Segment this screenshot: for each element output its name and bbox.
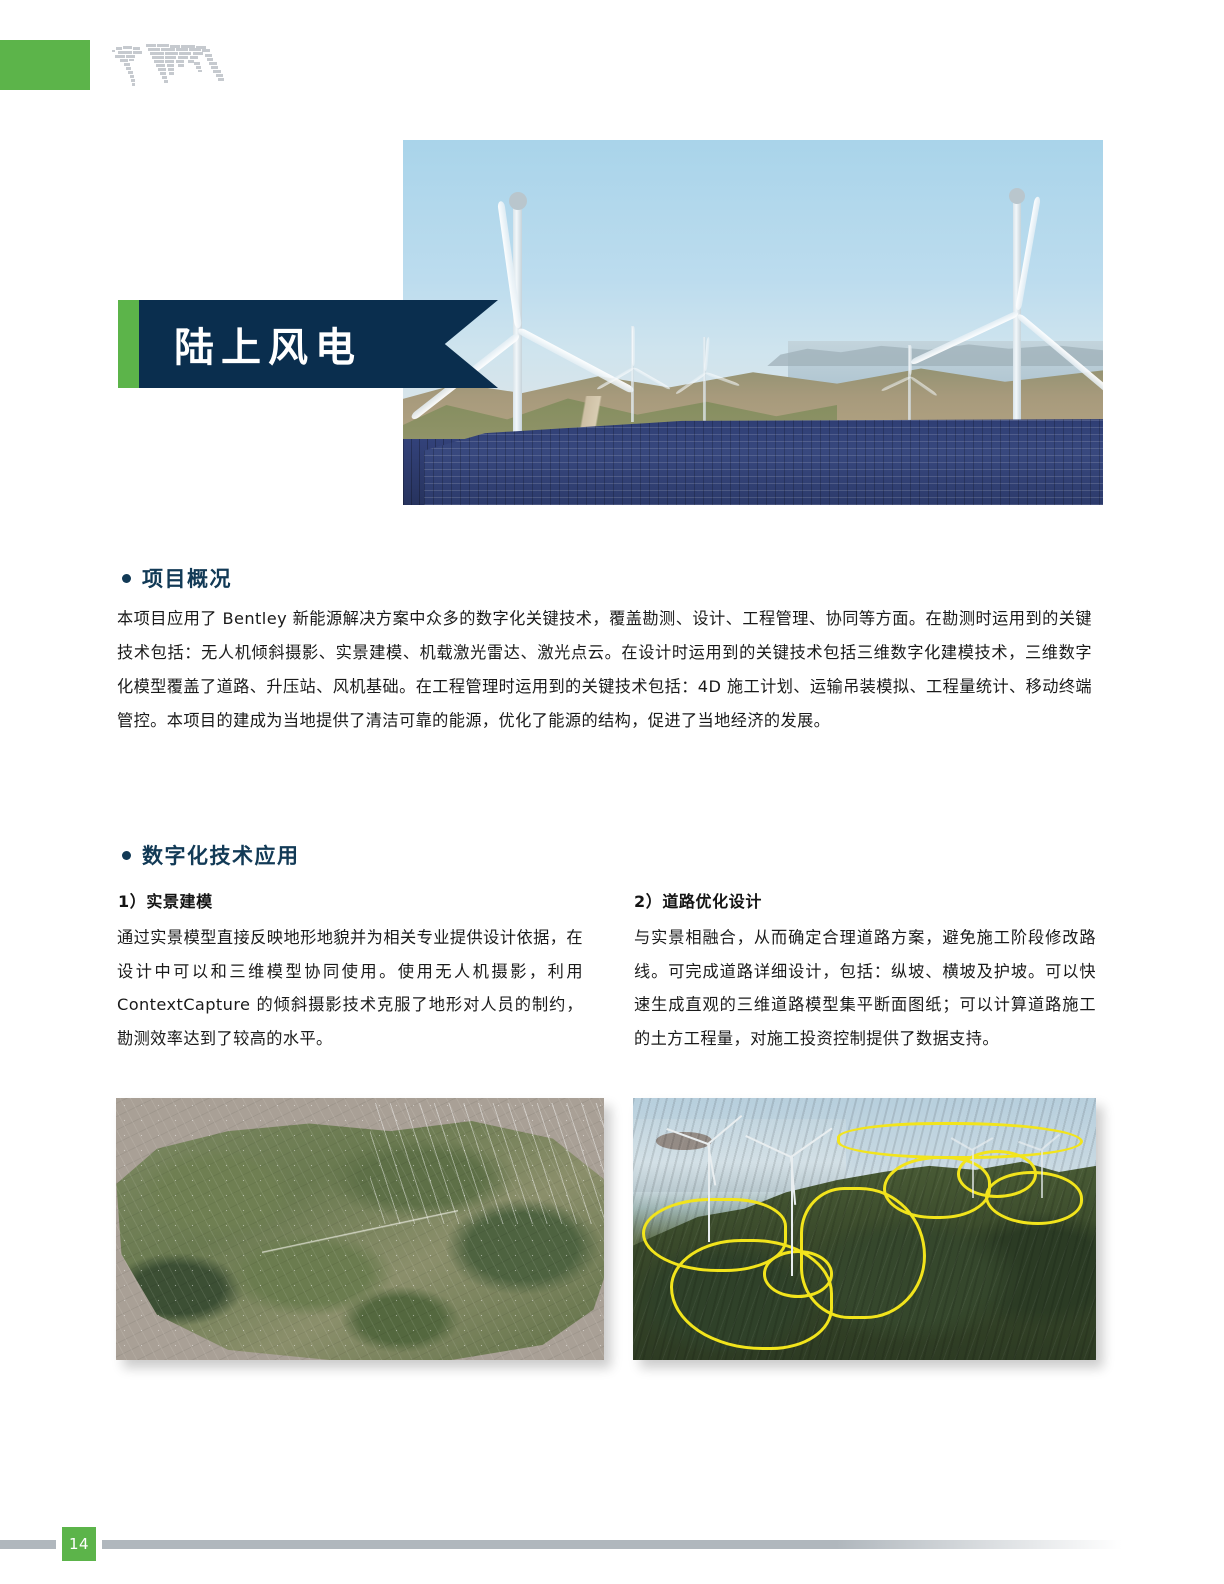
subsection-heading-road-design: 2）道路优化设计 [634, 888, 762, 912]
reality-mesh-figure [116, 1098, 604, 1360]
title-banner: 陆上风电 [118, 300, 498, 388]
hero-photo [403, 140, 1103, 505]
footer-rule-right [102, 1540, 1122, 1549]
wind-turbine-far-1 [631, 312, 634, 422]
subsection-paragraph-road-design: 与实景相融合，从而确定合理道路方案，避免施工阶段修改路线。可完成道路详细设计，包… [634, 921, 1096, 1055]
wind-turbine-model-3 [971, 1140, 973, 1198]
document-page: 陆上风电 项目概况 本项目应用了 Bentley 新能源解决方案中众多的数字化关… [0, 0, 1224, 1584]
header-green-block [0, 40, 90, 90]
world-map-icon [106, 40, 232, 92]
road-alignment-figure [633, 1098, 1096, 1360]
section-heading-digital: 数字化技术应用 [122, 840, 300, 870]
subsection-paragraph-reality-modeling: 通过实景模型直接反映地形地貌并为相关专业提供设计依据，在设计中可以和三维模型协同… [117, 921, 583, 1055]
bullet-dot-icon [122, 851, 131, 860]
page-number: 14 [62, 1527, 96, 1561]
wind-turbine-model-2 [790, 1140, 792, 1276]
section-heading-label: 数字化技术应用 [142, 840, 300, 870]
section-heading-overview: 项目概况 [122, 563, 232, 593]
wind-turbine-model-4 [1040, 1140, 1042, 1198]
banner-green-accent [118, 300, 139, 388]
wind-turbine-far-2 [703, 325, 706, 425]
wind-turbine-model-1 [707, 1127, 709, 1242]
overview-paragraph: 本项目应用了 Bentley 新能源解决方案中众多的数字化关键技术，覆盖勘测、设… [117, 602, 1092, 738]
subsection-heading-reality-modeling: 1）实景建模 [118, 888, 213, 912]
wind-turbine-far-3 [908, 335, 911, 430]
bullet-dot-icon [122, 574, 131, 583]
footer-rule-left [0, 1540, 56, 1549]
section-heading-label: 项目概况 [142, 563, 232, 593]
page-title: 陆上风电 [174, 300, 362, 388]
wind-turbine-right [1013, 155, 1017, 455]
